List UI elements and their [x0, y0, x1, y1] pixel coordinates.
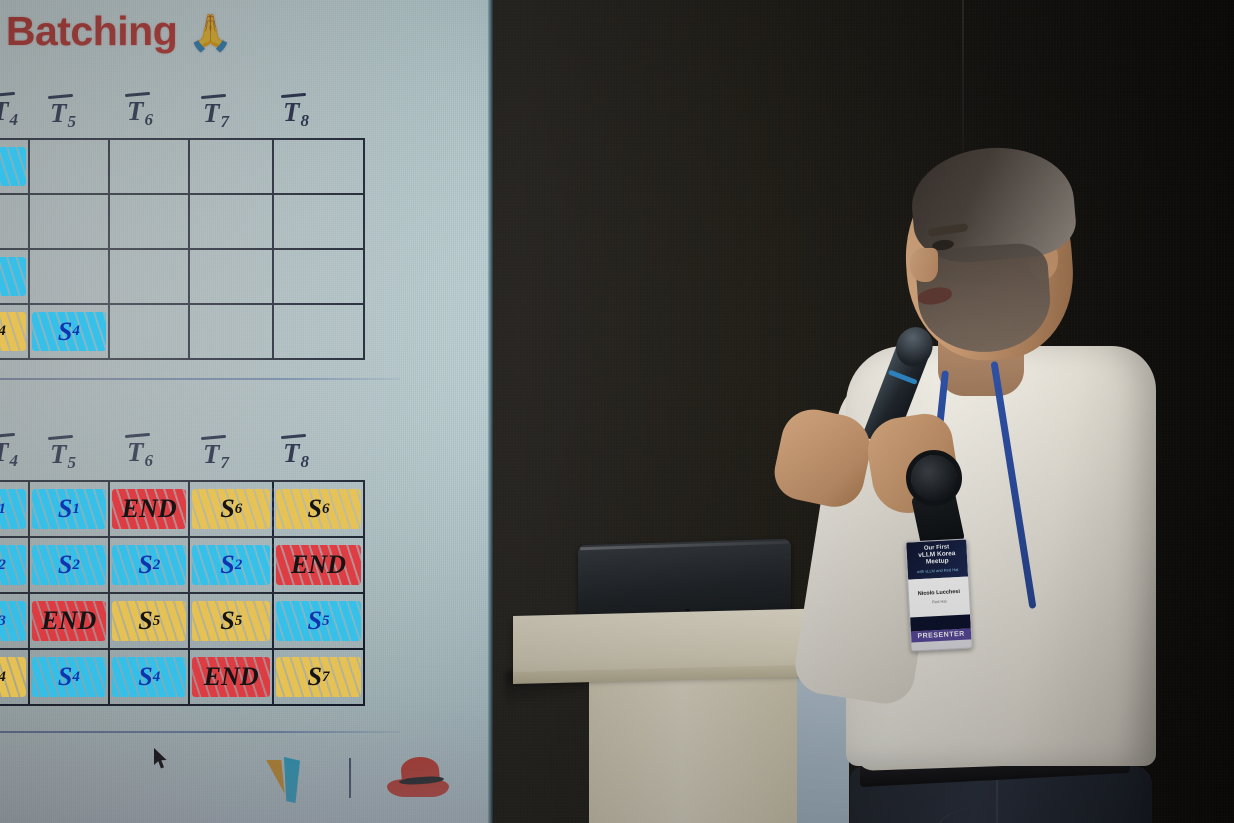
grid-cell: [189, 194, 273, 249]
table-row: [0, 194, 364, 249]
grid-cell: S7: [273, 649, 364, 705]
grid-cell: S2: [109, 537, 189, 593]
grid-cell: END: [273, 537, 364, 593]
badge-identity: Nicolo Lucchesi Red Hat: [908, 576, 970, 617]
cell-label: S4: [0, 650, 28, 704]
grid-cell: S2: [29, 537, 109, 593]
cell-label: [110, 305, 188, 358]
cell-label: [0, 250, 28, 303]
dashed-column-divider: [272, 538, 274, 592]
grid-cell: [189, 249, 273, 304]
grid-cell: [109, 249, 189, 304]
cell-label: [274, 305, 363, 358]
cell-label: S2: [110, 538, 188, 592]
badge-attendee-org: Red Hat: [911, 597, 967, 605]
cell-label: [0, 140, 28, 193]
cell-label: [190, 250, 272, 303]
cell-label: S6: [190, 482, 272, 536]
screen-right-edge: [488, 0, 493, 823]
cell-label: [190, 195, 272, 248]
cell-label: END: [110, 482, 188, 536]
cell-label: [110, 250, 188, 303]
table-row: S1S1ENDS6S6: [0, 481, 364, 537]
badge-event-line3: with vLLM and Red Hat: [911, 566, 965, 574]
badge-event-line2: vLLM Korea Meetup: [910, 550, 965, 567]
table-row: S4S4S4ENDS7: [0, 649, 364, 705]
grid-cell: S6: [273, 481, 364, 537]
cell-label: [30, 250, 108, 303]
presenter-badge: Our First vLLM Korea Meetup with vLLM an…: [905, 538, 973, 651]
grid-cell: [29, 194, 109, 249]
grid-cell: S4: [109, 649, 189, 705]
grid-cell: [273, 249, 364, 304]
grid-cell: END: [29, 593, 109, 649]
dashed-column-divider: [272, 594, 274, 648]
grid-cell: [109, 304, 189, 359]
cell-label: S4: [110, 650, 188, 704]
grid-cell: [0, 194, 29, 249]
cell-label: S1: [0, 482, 28, 536]
grid-cell: S2: [0, 537, 29, 593]
grid-cell: S3: [0, 593, 29, 649]
grid-cell: [189, 304, 273, 359]
table-row: S4S4: [0, 304, 364, 359]
grid-cell: [273, 194, 364, 249]
presenter-nose: [910, 248, 938, 282]
badge-attendee-name: Nicolo Lucchesi: [911, 588, 967, 597]
grid-cell: S4: [0, 304, 29, 359]
cell-label: S5: [274, 594, 363, 648]
screen-bottom-tint: [0, 703, 493, 823]
grid-cell: S2: [189, 537, 273, 593]
cell-label: S4: [30, 650, 108, 704]
grid-cell: [273, 139, 364, 194]
grid-cell: S5: [273, 593, 364, 649]
conference-photo-frame: ative Batching 🙏 T4 T5 T6 T7 T8 S4S4 T4 …: [0, 0, 1234, 823]
grid-cell: END: [109, 481, 189, 537]
cell-label: S4: [30, 305, 108, 358]
cell-label: [0, 195, 28, 248]
cell-label: S4: [0, 305, 28, 358]
grid-cell: [273, 304, 364, 359]
projection-screen: ative Batching 🙏 T4 T5 T6 T7 T8 S4S4 T4 …: [0, 0, 493, 823]
cell-label: S1: [30, 482, 108, 536]
dashed-column-divider: [272, 650, 274, 704]
cell-label: S2: [190, 538, 272, 592]
cell-label: [190, 140, 272, 193]
cell-label: [190, 305, 272, 358]
cell-label: [274, 195, 363, 248]
grid-cell: S4: [29, 649, 109, 705]
cell-label: S3: [0, 594, 28, 648]
cell-label: [30, 195, 108, 248]
grid-cell: [29, 249, 109, 304]
grid-cell: S4: [0, 649, 29, 705]
grid-cell: S5: [109, 593, 189, 649]
table-row: [0, 139, 364, 194]
grid-cell: [189, 139, 273, 194]
cell-label: [274, 250, 363, 303]
dashed-column-divider: [272, 482, 274, 536]
cell-label: [110, 195, 188, 248]
cell-label: S5: [190, 594, 272, 648]
cell-label: END: [30, 594, 108, 648]
grid-cell: S1: [29, 481, 109, 537]
grid-cell: S5: [189, 593, 273, 649]
microphone-ring: [888, 369, 918, 384]
grid-cell: [0, 249, 29, 304]
grid-cell: [0, 139, 29, 194]
cell-label: [110, 140, 188, 193]
table-row: [0, 249, 364, 304]
cell-label: [30, 140, 108, 193]
table-row: S3ENDS5S5S5: [0, 593, 364, 649]
cell-label: S6: [274, 482, 363, 536]
grid-cell: END: [189, 649, 273, 705]
grid-cell: [109, 194, 189, 249]
cell-label: END: [190, 650, 272, 704]
grid-cell: S6: [189, 481, 273, 537]
cell-label: END: [274, 538, 363, 592]
badge-header: Our First vLLM Korea Meetup with vLLM an…: [906, 540, 968, 580]
grid-cell: S4: [29, 304, 109, 359]
cell-label: S2: [30, 538, 108, 592]
badge-role-label: PRESENTER: [911, 628, 971, 642]
presenter: Our First vLLM Korea Meetup with vLLM an…: [760, 120, 1190, 823]
cell-label: S5: [110, 594, 188, 648]
cell-label: S7: [274, 650, 363, 704]
grid-cell: S1: [0, 481, 29, 537]
table-row: S2S2S2S2END: [0, 537, 364, 593]
cell-label: [274, 140, 363, 193]
grid-cell: [109, 139, 189, 194]
grid-cell: [29, 139, 109, 194]
cell-label: S2: [0, 538, 28, 592]
